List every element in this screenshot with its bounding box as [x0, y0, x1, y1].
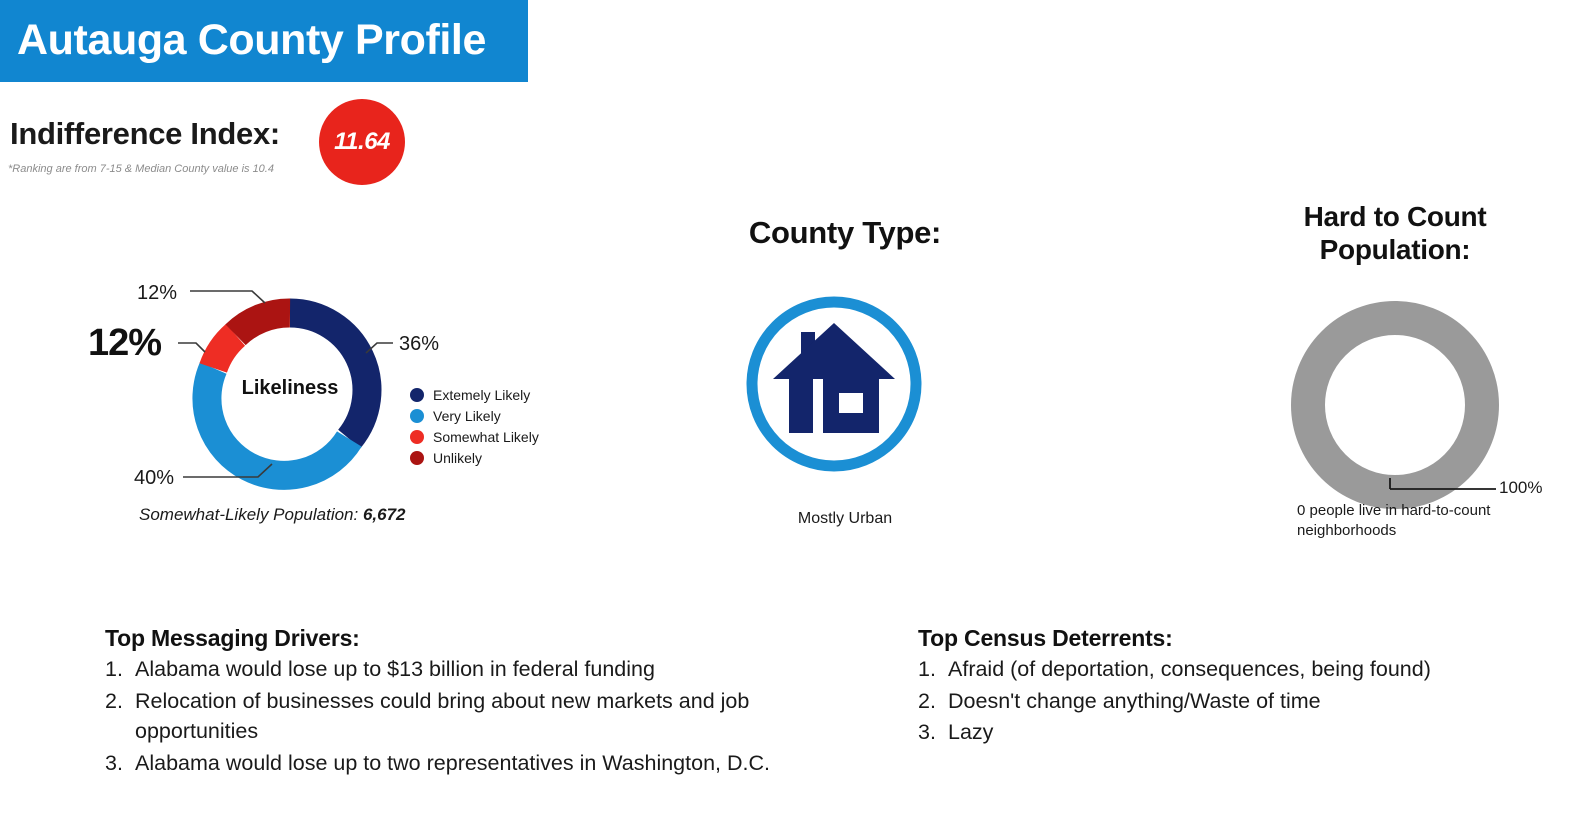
county-type-badge [743, 293, 925, 475]
list-item-text: Alabama would lose up to $13 billion in … [135, 654, 825, 685]
legend-swatch-icon-unlikely [410, 451, 424, 465]
legend-label-somewhat-likely: Somewhat Likely [433, 429, 539, 445]
list-item-text: Lazy [948, 717, 1578, 748]
legend-label-extemely-likely: Extemely Likely [433, 387, 530, 403]
county-type-panel: County Type: Mostly Urban [660, 215, 1030, 555]
hard-to-count-panel: Hard to Count Population: 100% 0 people … [1235, 200, 1580, 560]
hard-to-count-ring-segment [1308, 318, 1482, 492]
legend-item-unlikely: Unlikely [410, 449, 539, 467]
list-item-number: 1. [105, 654, 135, 685]
leader-line-12-top [190, 291, 265, 303]
list-item-number: 3. [918, 717, 948, 748]
indifference-index-note: *Ranking are from 7-15 & Median County v… [8, 163, 274, 175]
hard-to-count-percent: 100% [1499, 478, 1542, 498]
donut-label-extemely-likely-pct: 36% [399, 333, 439, 356]
census-deterrents-list: 1. Afraid (of deportation, consequences,… [918, 654, 1578, 748]
legend-item-extemely-likely: Extemely Likely [410, 386, 539, 404]
likeliness-chart: Likeliness 12% 36% 40% 12% Extemely Like… [0, 255, 620, 555]
indifference-index-label: Indifference Index: [10, 116, 280, 152]
donut-segment-somewhat-likely [213, 335, 235, 368]
county-profile-infographic: Autauga County Profile Indifference Inde… [0, 0, 1587, 832]
messaging-drivers-list: 1. Alabama would lose up to $13 billion … [105, 654, 825, 778]
list-item-text: Relocation of businesses could bring abo… [135, 686, 825, 747]
county-type-caption: Mostly Urban [660, 510, 1030, 528]
messaging-drivers-block: Top Messaging Drivers: 1. Alabama would … [105, 625, 825, 779]
list-item-number: 2. [105, 686, 135, 747]
list-item-number: 3. [105, 748, 135, 779]
hard-to-count-caption: 0 people live in hard-to-count neighborh… [1297, 501, 1492, 542]
list-item: 2. Relocation of businesses could bring … [105, 686, 825, 747]
legend-label-very-likely: Very Likely [433, 408, 501, 424]
list-item-text: Alabama would lose up to two representat… [135, 748, 825, 779]
list-item-number: 1. [918, 654, 948, 685]
list-item: 1. Afraid (of deportation, consequences,… [918, 654, 1578, 685]
donut-center-label: Likeliness [232, 377, 348, 400]
hard-to-count-donut-svg [1290, 300, 1500, 510]
county-type-title: County Type: [660, 215, 1030, 251]
house-icon [773, 323, 895, 433]
list-item-number: 2. [918, 686, 948, 717]
hard-to-count-title: Hard to Count Population: [1235, 200, 1555, 266]
somewhat-likely-population-label: Somewhat-Likely Population: [139, 505, 363, 524]
donut-label-very-likely-pct: 40% [134, 467, 174, 490]
list-item-text: Doesn't change anything/Waste of time [948, 686, 1578, 717]
legend-item-somewhat-likely: Somewhat Likely [410, 428, 539, 446]
legend-swatch-icon-somewhat-likely [410, 430, 424, 444]
legend-item-very-likely: Very Likely [410, 407, 539, 425]
census-deterrents-title: Top Census Deterrents: [918, 625, 1578, 652]
list-item: 1. Alabama would lose up to $13 billion … [105, 654, 825, 685]
list-item: 3. Alabama would lose up to two represen… [105, 748, 825, 779]
somewhat-likely-population: Somewhat-Likely Population: 6,672 [139, 505, 406, 525]
messaging-drivers-title: Top Messaging Drivers: [105, 625, 825, 652]
list-item-text: Afraid (of deportation, consequences, be… [948, 654, 1578, 685]
census-deterrents-block: Top Census Deterrents: 1. Afraid (of dep… [918, 625, 1578, 749]
donut-label-unlikely-pct: 12% [137, 282, 177, 305]
donut-segment-extemely-likely [290, 313, 367, 439]
list-item: 2. Doesn't change anything/Waste of time [918, 686, 1578, 717]
donut-segment-unlikely [236, 313, 290, 335]
legend-label-unlikely: Unlikely [433, 450, 482, 466]
somewhat-likely-population-value: 6,672 [363, 505, 406, 524]
list-item: 3. Lazy [918, 717, 1578, 748]
page-title: Autauga County Profile [17, 16, 486, 65]
likeliness-legend: Extemely Likely Very Likely Somewhat Lik… [410, 386, 539, 470]
legend-swatch-icon-very-likely [410, 409, 424, 423]
donut-label-somewhat-likely-pct: 12% [88, 322, 161, 365]
legend-swatch-icon-extemely-likely [410, 388, 424, 402]
indifference-index-value: 11.64 [334, 128, 390, 156]
leader-line-12-big [178, 343, 205, 352]
indifference-index-badge: 11.64 [319, 99, 405, 185]
